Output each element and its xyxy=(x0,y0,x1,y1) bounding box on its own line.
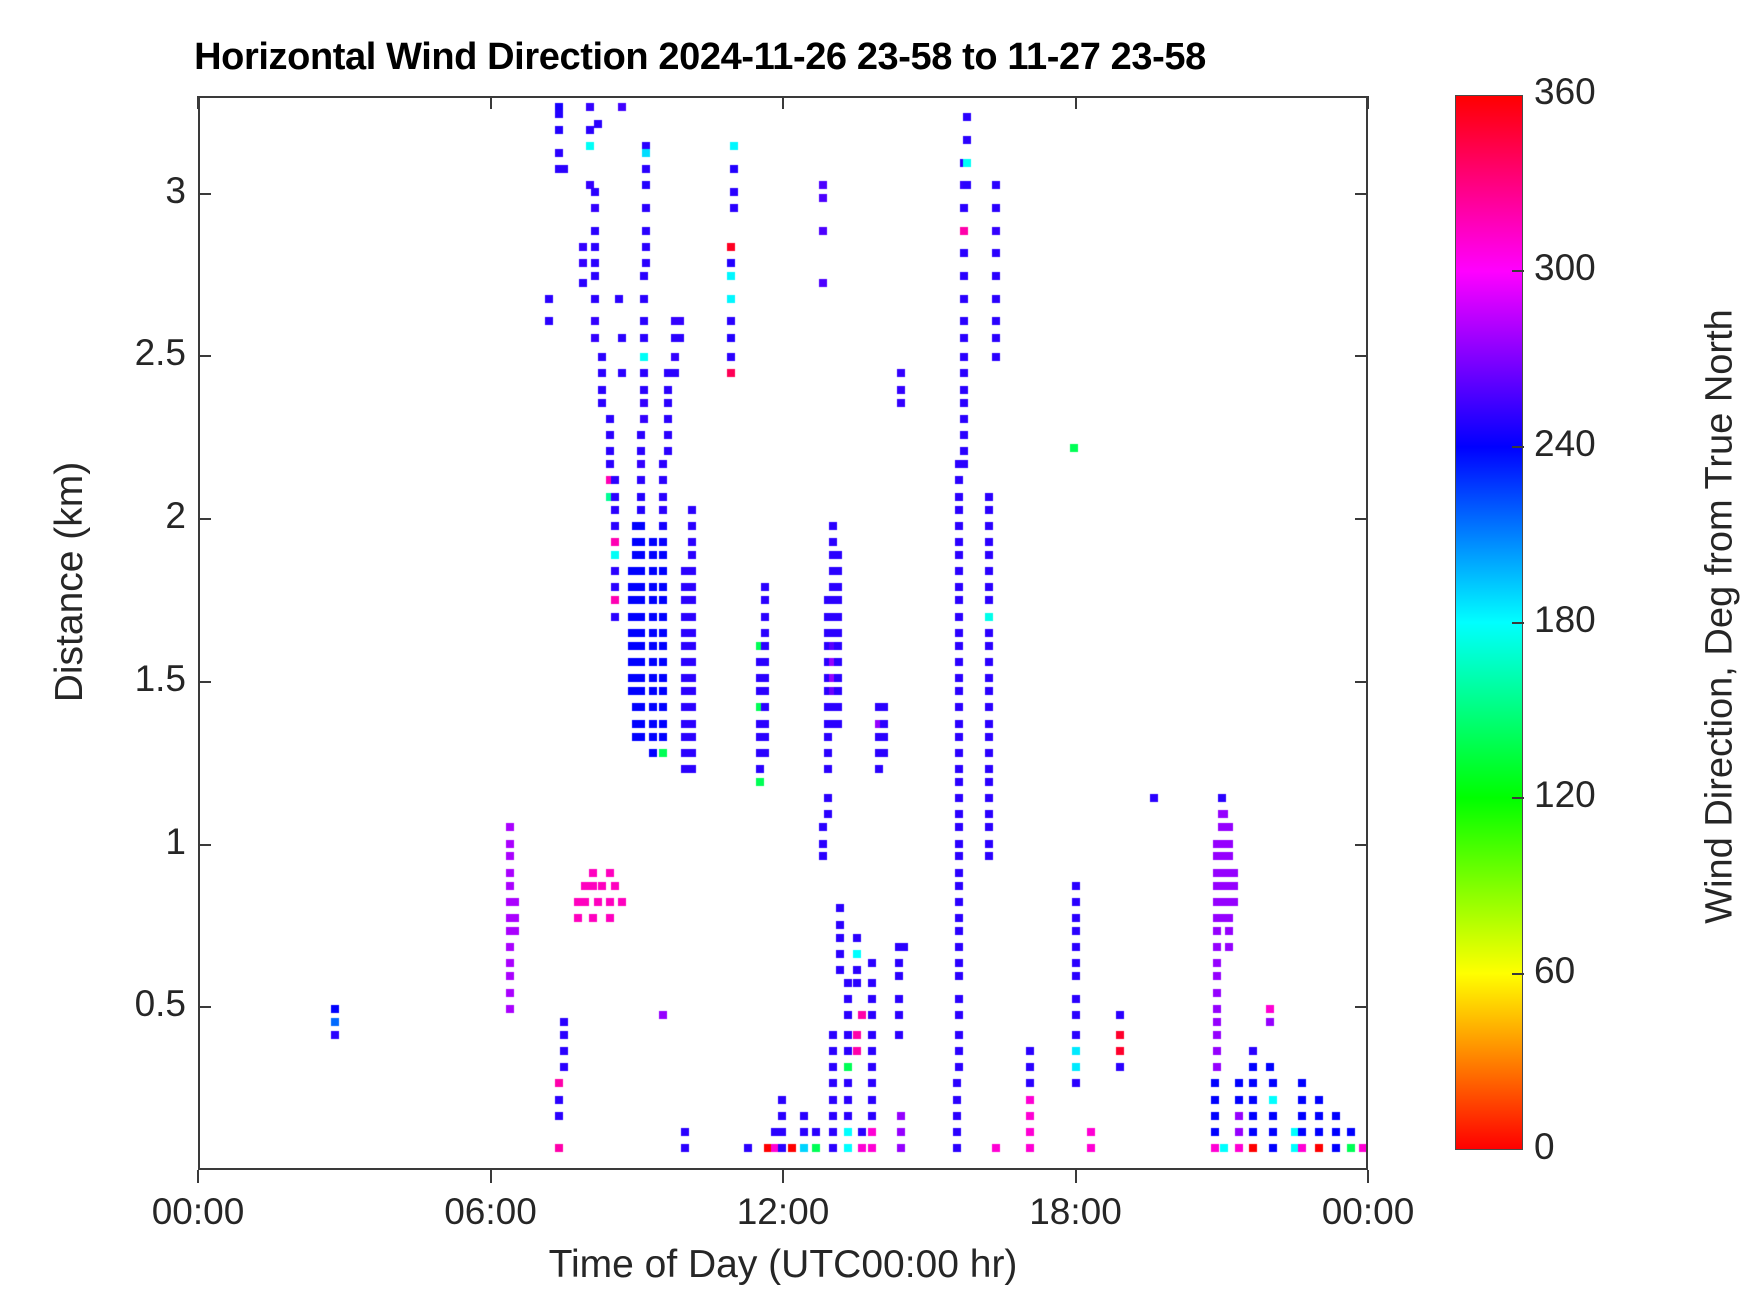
y-tick-label: 3 xyxy=(165,170,186,212)
y-tick-mark-right xyxy=(1355,355,1368,357)
colorbar-tick-label: 0 xyxy=(1534,1126,1555,1168)
x-tick-mark-top xyxy=(1075,96,1077,109)
x-tick-label: 12:00 xyxy=(737,1191,830,1233)
y-tick-mark xyxy=(198,844,211,846)
y-tick-label: 1 xyxy=(165,821,186,863)
plot-axes-frame xyxy=(198,96,1368,1170)
colorbar-tick-label: 120 xyxy=(1534,774,1596,816)
colorbar-tick-label: 60 xyxy=(1534,950,1575,992)
x-tick-mark-top xyxy=(782,96,784,109)
colorbar-tick-mark xyxy=(1512,446,1524,448)
x-tick-label: 06:00 xyxy=(444,1191,537,1233)
x-tick-mark-top xyxy=(490,96,492,109)
y-tick-mark-right xyxy=(1355,193,1368,195)
x-tick-label: 00:00 xyxy=(1322,1191,1415,1233)
y-tick-mark xyxy=(198,681,211,683)
x-tick-mark xyxy=(490,1170,492,1183)
colorbar-tick-mark xyxy=(1512,973,1524,975)
heatmap-canvas xyxy=(200,98,1366,1168)
page-title: Horizontal Wind Direction 2024-11-26 23-… xyxy=(0,36,1400,79)
colorbar-tick-mark xyxy=(1512,270,1524,272)
colorbar-tick-label: 240 xyxy=(1534,423,1596,465)
x-tick-mark-top xyxy=(197,96,199,109)
y-tick-label: 2 xyxy=(165,495,186,537)
y-tick-label: 2.5 xyxy=(135,332,186,374)
y-tick-mark-right xyxy=(1355,844,1368,846)
y-tick-mark xyxy=(198,518,211,520)
x-axis-label: Time of Day (UTC00:00 hr) xyxy=(198,1243,1368,1287)
y-tick-mark xyxy=(198,355,211,357)
x-tick-mark xyxy=(1367,1170,1369,1183)
x-tick-label: 18:00 xyxy=(1029,1191,1122,1233)
colorbar-tick-label: 360 xyxy=(1534,71,1596,113)
wind-direction-plot-figure: Horizontal Wind Direction 2024-11-26 23-… xyxy=(0,0,1750,1313)
y-tick-mark-right xyxy=(1355,518,1368,520)
y-tick-mark xyxy=(198,1006,211,1008)
y-tick-mark-right xyxy=(1355,681,1368,683)
x-tick-mark xyxy=(1075,1170,1077,1183)
y-tick-mark-right xyxy=(1355,1006,1368,1008)
colorbar-label: Wind Direction, Deg from True North xyxy=(1699,267,1742,967)
colorbar-tick-mark xyxy=(1512,797,1524,799)
colorbar-tick-label: 300 xyxy=(1534,247,1596,289)
y-tick-label: 0.5 xyxy=(135,983,186,1025)
y-axis-label: Distance (km) xyxy=(48,282,92,882)
y-tick-label: 1.5 xyxy=(135,658,186,700)
x-tick-label: 00:00 xyxy=(152,1191,245,1233)
x-tick-mark xyxy=(197,1170,199,1183)
colorbar-tick-label: 180 xyxy=(1534,599,1596,641)
x-tick-mark-top xyxy=(1367,96,1369,109)
colorbar-tick-mark xyxy=(1512,622,1524,624)
x-tick-mark xyxy=(782,1170,784,1183)
y-tick-mark xyxy=(198,193,211,195)
